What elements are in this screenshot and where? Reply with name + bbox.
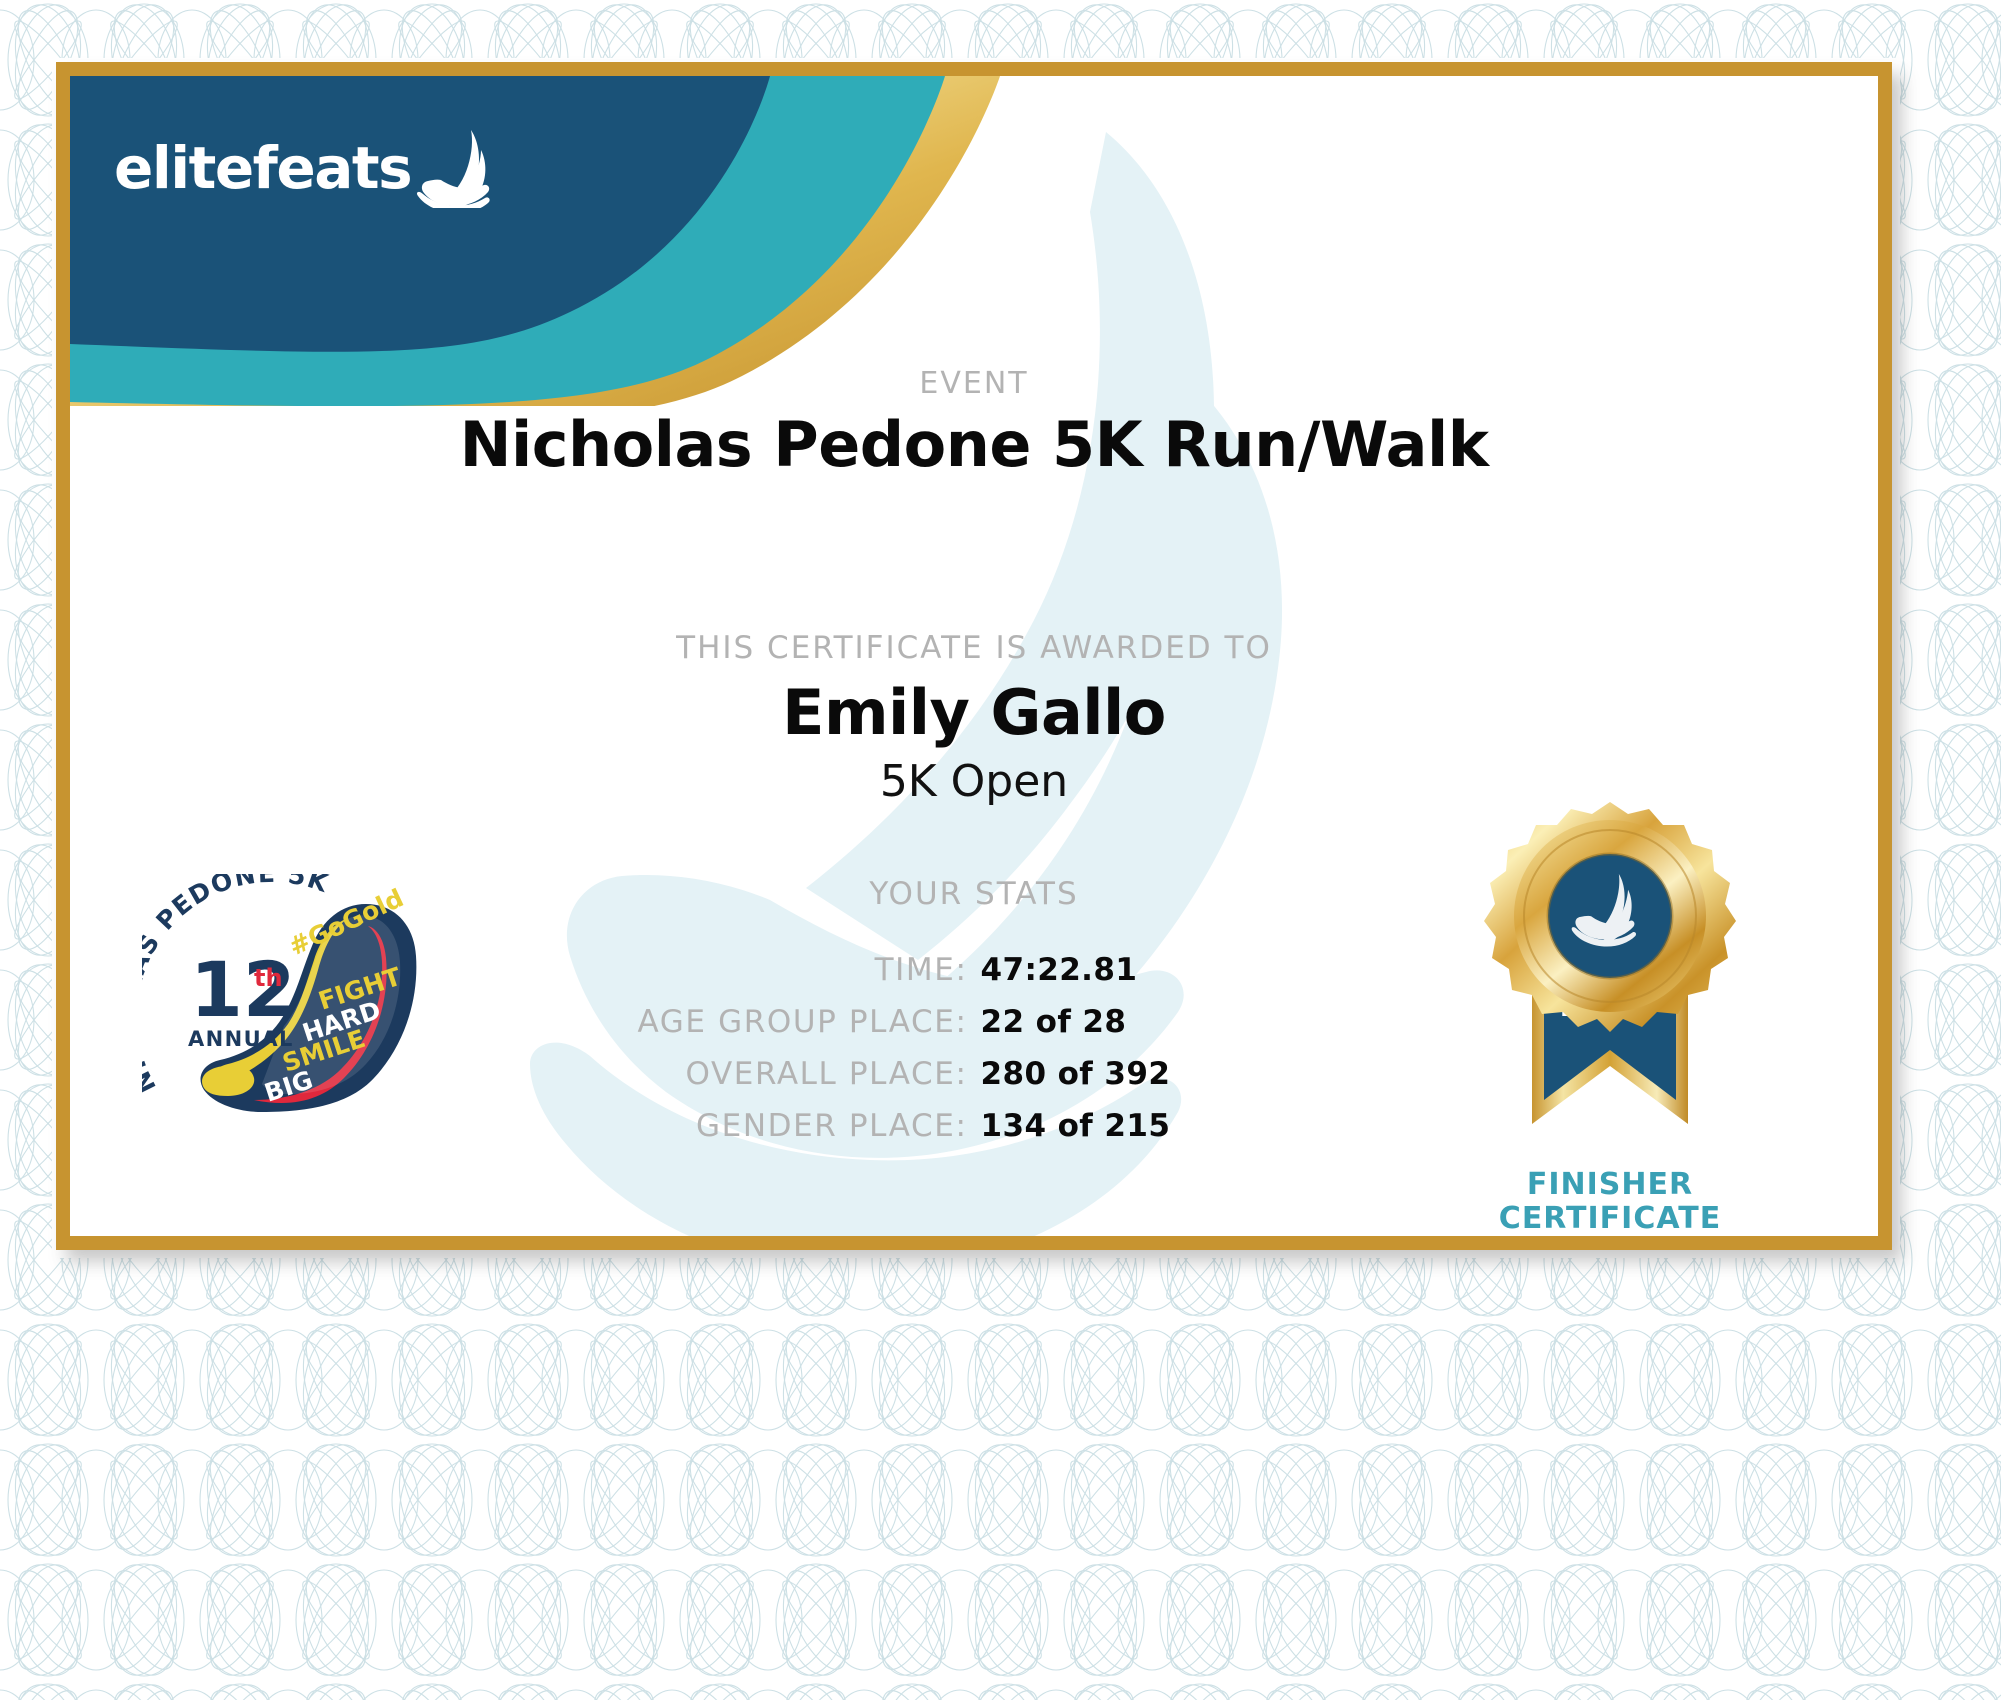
finisher-caption: FINISHER CERTIFICATE — [1440, 1168, 1780, 1235]
event-label: EVENT — [70, 366, 1878, 401]
brand-wordmark: elitefeats — [114, 139, 411, 197]
stat-value-time: 47:22.81 — [968, 952, 1501, 988]
stat-value-age-group-place: 22 of 28 — [968, 1004, 1501, 1040]
recipient-name: Emily Gallo — [70, 676, 1878, 749]
stat-value-overall-place: 280 of 392 — [968, 1056, 1501, 1092]
stat-label-gender-place: GENDER PLACE: — [448, 1108, 968, 1144]
race-event-logo: NICHOLAS PEDONE 5K 12 th — [142, 874, 442, 1174]
race-logo-edition-suffix: th — [254, 964, 283, 992]
medal-rosette — [1484, 802, 1736, 1032]
event-name: Nicholas Pedone 5K Run/Walk — [70, 408, 1878, 481]
finisher-caption-line2: CERTIFICATE — [1440, 1202, 1780, 1236]
stat-label-time: TIME: — [448, 952, 968, 988]
finisher-caption-line1: FINISHER — [1440, 1168, 1780, 1202]
winged-foot-icon — [415, 128, 499, 208]
certificate-card: elitefeats EVENT Nicholas Pedone 5K Run/… — [56, 62, 1892, 1250]
certificate-inner: elitefeats EVENT Nicholas Pedone 5K Run/… — [70, 76, 1878, 1236]
brand-logo: elitefeats — [114, 128, 499, 208]
awarded-to-label: THIS CERTIFICATE IS AWARDED TO — [70, 630, 1878, 666]
race-logo-annual-text: ANNUAL — [188, 1027, 294, 1051]
header-corner-decoration — [70, 76, 1070, 406]
stat-value-gender-place: 134 of 215 — [968, 1108, 1501, 1144]
certificate-page: elitefeats EVENT Nicholas Pedone 5K Run/… — [0, 0, 2001, 1700]
stat-label-age-group-place: AGE GROUP PLACE: — [448, 1004, 968, 1040]
stat-label-overall-place: OVERALL PLACE: — [448, 1056, 968, 1092]
